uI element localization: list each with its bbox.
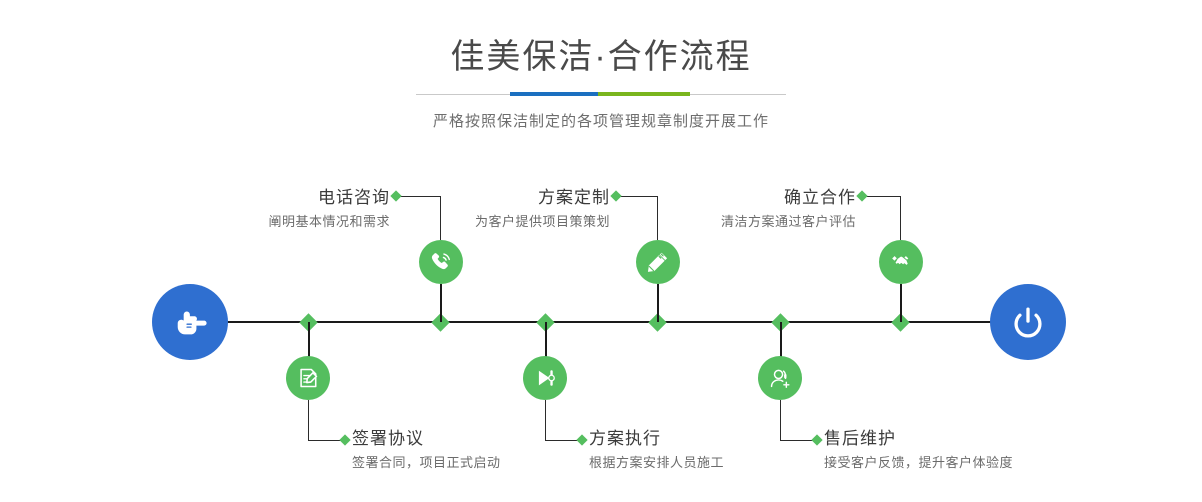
step-desc-5: 清洁方案通过客户评估	[676, 212, 856, 232]
step-title-6: 售后维护	[824, 428, 1074, 450]
step-node-6[interactable]	[758, 356, 802, 400]
headset-support-icon	[767, 365, 793, 391]
document-edit-icon	[295, 365, 321, 391]
label-elbow-horizontal-5	[862, 196, 900, 197]
page-title: 佳美保洁·合作流程	[0, 34, 1202, 80]
step-desc-3: 为客户提供项目策策划	[430, 212, 610, 232]
divider-segment-green	[598, 92, 690, 96]
step-desc-6: 接受客户反馈，提升客户体验度	[824, 453, 1074, 473]
label-elbow-horizontal-3	[616, 196, 657, 197]
connector-stem-2	[308, 322, 310, 358]
label-elbow-vertical-3	[657, 196, 658, 240]
flow-start-node[interactable]	[152, 284, 228, 360]
step-label-6: 售后维护 接受客户反馈，提升客户体验度	[824, 428, 1074, 473]
label-tip-1	[390, 190, 401, 201]
step-desc-4: 根据方案安排人员施工	[589, 453, 819, 473]
flow-end-node[interactable]	[990, 284, 1066, 360]
pencil-ruler-icon	[645, 249, 671, 275]
page-subtitle: 严格按照保洁制定的各项管理规章制度开展工作	[0, 111, 1202, 133]
step-node-2[interactable]	[286, 356, 330, 400]
handshake-icon	[888, 249, 915, 276]
label-tip-3	[610, 190, 621, 201]
step-node-3[interactable]	[636, 240, 680, 284]
header: 佳美保洁·合作流程 严格按照保洁制定的各项管理规章制度开展工作	[0, 34, 1202, 133]
step-label-4: 方案执行 根据方案安排人员施工	[589, 428, 819, 473]
label-elbow-vertical-4	[545, 400, 546, 440]
label-elbow-vertical-2	[308, 400, 309, 440]
label-elbow-vertical-5	[900, 196, 901, 240]
connector-stem-5	[900, 284, 902, 322]
label-tip-2	[339, 434, 350, 445]
phone-call-icon	[428, 249, 454, 275]
connector-stem-3	[657, 284, 659, 322]
connector-stem-1	[440, 284, 442, 322]
step-node-4[interactable]	[523, 356, 567, 400]
step-desc-1: 阐明基本情况和需求	[205, 212, 390, 232]
step-node-5[interactable]	[879, 240, 923, 284]
step-desc-2: 签署合同，项目正式启动	[352, 453, 582, 473]
connector-stem-6	[780, 322, 782, 358]
power-icon	[1006, 300, 1050, 344]
label-tip-5	[856, 190, 867, 201]
step-label-1: 电话咨询 阐明基本情况和需求	[205, 187, 390, 232]
title-divider	[0, 88, 1202, 102]
step-node-1[interactable]	[419, 240, 463, 284]
step-title-5: 确立合作	[676, 187, 856, 209]
step-title-4: 方案执行	[589, 428, 819, 450]
step-label-3: 方案定制 为客户提供项目策策划	[430, 187, 610, 232]
process-flow-infographic: 佳美保洁·合作流程 严格按照保洁制定的各项管理规章制度开展工作	[0, 0, 1202, 502]
label-elbow-vertical-6	[780, 400, 781, 440]
step-title-3: 方案定制	[430, 187, 610, 209]
play-next-icon	[532, 365, 558, 391]
connector-stem-4	[545, 322, 547, 358]
divider-segment-blue	[510, 92, 598, 96]
pointing-hand-icon	[168, 300, 212, 344]
step-title-2: 签署协议	[352, 428, 582, 450]
step-title-1: 电话咨询	[205, 187, 390, 209]
step-label-5: 确立合作 清洁方案通过客户评估	[676, 187, 856, 232]
step-label-2: 签署协议 签署合同，项目正式启动	[352, 428, 582, 473]
